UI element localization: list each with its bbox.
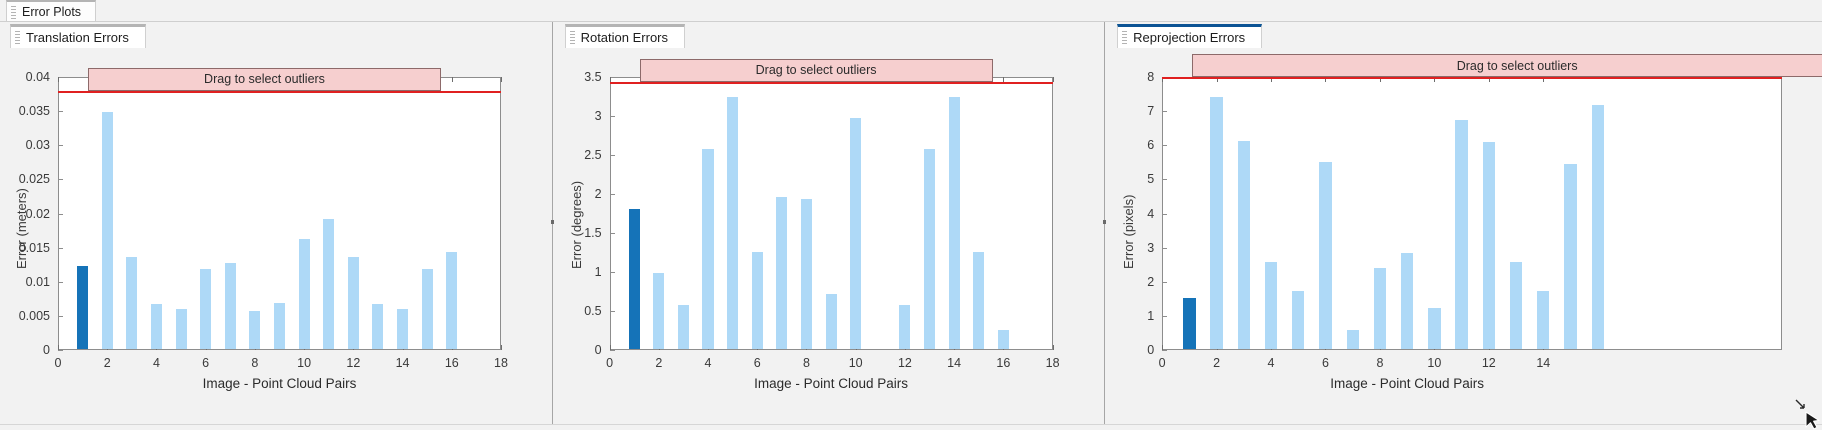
x-tick-label: 8 [1376, 356, 1383, 370]
bar[interactable] [1319, 162, 1331, 349]
bar[interactable] [727, 97, 738, 349]
document-tabstrip: Error Plots [0, 0, 1822, 22]
x-tick-label: 2 [1213, 356, 1220, 370]
x-tick-label: 4 [153, 356, 160, 370]
x-tick-label: 10 [297, 356, 311, 370]
drag-grip-icon[interactable] [11, 6, 16, 19]
bar[interactable] [653, 273, 664, 349]
bar[interactable] [1564, 164, 1576, 349]
x-tick-label: 6 [1322, 356, 1329, 370]
outlier-threshold-line[interactable] [1162, 77, 1782, 79]
bar[interactable] [249, 311, 260, 349]
splitter-line [1104, 22, 1105, 430]
outlier-drag-band[interactable]: Drag to select outliers [88, 68, 441, 91]
y-tick-label: 0 [555, 343, 602, 357]
x-tick-label: 8 [803, 356, 810, 370]
x-axis-label: Image - Point Cloud Pairs [1162, 376, 1652, 391]
bar[interactable] [776, 197, 787, 349]
y-tick-label: 0.01 [0, 275, 50, 289]
x-tick-label: 18 [494, 356, 508, 370]
bar[interactable] [949, 97, 960, 349]
splitter-line [552, 22, 553, 430]
panel-rotation-errors: Rotation Errors 00.511.522.533.502468101… [555, 22, 1104, 430]
splitter-handle[interactable] [551, 220, 554, 224]
bar[interactable] [1347, 330, 1359, 349]
bar[interactable] [151, 304, 162, 349]
y-tick-mark [610, 350, 615, 351]
x-tick-label: 2 [104, 356, 111, 370]
bar[interactable] [1428, 308, 1440, 349]
bar[interactable] [1455, 120, 1467, 349]
bar[interactable] [678, 305, 689, 349]
bar[interactable] [924, 149, 935, 349]
x-tick-mark-top [501, 77, 502, 82]
x-tick-label: 0 [1159, 356, 1166, 370]
bar[interactable] [77, 266, 88, 349]
outlier-drag-band[interactable]: Drag to select outliers [1192, 54, 1822, 77]
bar[interactable] [1210, 97, 1222, 349]
bar-series [1163, 78, 1781, 349]
bar[interactable] [973, 252, 984, 350]
bar[interactable] [323, 219, 334, 349]
bar[interactable] [1483, 142, 1495, 349]
y-tick-mark [1162, 350, 1167, 351]
y-axis-label: Error (pixels) [1121, 194, 1136, 268]
x-axis-label: Image - Point Cloud Pairs [610, 376, 1053, 391]
y-tick-label: 7 [1107, 104, 1154, 118]
x-tick-label: 2 [655, 356, 662, 370]
y-tick-label: 0.005 [0, 309, 50, 323]
x-tick-label: 12 [898, 356, 912, 370]
bar[interactable] [348, 257, 359, 349]
y-tick-label: 0.03 [0, 138, 50, 152]
bar[interactable] [225, 263, 236, 349]
outlier-drag-band[interactable]: Drag to select outliers [640, 59, 993, 82]
bar[interactable] [274, 303, 285, 349]
x-tick-mark [501, 345, 502, 350]
x-tick-label: 0 [55, 356, 62, 370]
x-axis-label: Image - Point Cloud Pairs [58, 376, 501, 391]
bar[interactable] [299, 239, 310, 349]
error-plots-window: Error Plots Translation Errors 00.0050.0… [0, 0, 1822, 430]
panel-row: Translation Errors 00.0050.010.0150.020.… [0, 22, 1822, 430]
bar[interactable] [422, 269, 433, 349]
bar[interactable] [850, 118, 861, 349]
bar[interactable] [826, 294, 837, 349]
y-tick-label: 0.04 [0, 70, 50, 84]
x-tick-label: 6 [754, 356, 761, 370]
outlier-band-label: Drag to select outliers [1457, 59, 1578, 73]
x-tick-label: 4 [705, 356, 712, 370]
bar[interactable] [1292, 291, 1304, 349]
bar-series [59, 78, 500, 349]
bar-series [611, 78, 1052, 349]
panel-translation-errors: Translation Errors 00.0050.010.0150.020.… [0, 22, 551, 430]
y-axis-label: Error (meters) [14, 188, 29, 269]
bar[interactable] [1238, 141, 1250, 349]
y-tick-label: 8 [1107, 70, 1154, 84]
outlier-band-label: Drag to select outliers [756, 63, 877, 77]
bar[interactable] [1537, 291, 1549, 349]
bar[interactable] [1183, 298, 1195, 349]
bar[interactable] [1592, 105, 1604, 349]
bar[interactable] [752, 252, 763, 350]
y-tick-label: 5 [1107, 172, 1154, 186]
bar[interactable] [446, 252, 457, 349]
bar[interactable] [397, 309, 408, 349]
bar[interactable] [801, 199, 812, 349]
window-bottom-edge [0, 424, 1822, 430]
y-tick-label: 0.035 [0, 104, 50, 118]
bar[interactable] [200, 269, 211, 349]
x-tick-mark-top [1053, 77, 1054, 82]
x-tick-label: 18 [1046, 356, 1060, 370]
bar[interactable] [1401, 253, 1413, 349]
x-tick-label: 14 [1536, 356, 1550, 370]
y-tick-mark [58, 350, 63, 351]
bar[interactable] [126, 257, 137, 349]
bar[interactable] [629, 209, 640, 349]
x-tick-label: 4 [1268, 356, 1275, 370]
y-tick-label: 2.5 [555, 148, 602, 162]
bar[interactable] [1265, 262, 1277, 349]
translation-errors-plot[interactable]: 00.0050.010.0150.020.0250.030.0350.04024… [0, 22, 551, 430]
y-tick-label: 1 [1107, 309, 1154, 323]
bar[interactable] [176, 309, 187, 349]
x-tick-label: 10 [849, 356, 863, 370]
panel-reprojection-errors: Reprojection Errors 01234567802468101214… [1107, 22, 1822, 430]
reprojection-errors-plot[interactable]: 01234567802468101214Error (pixels)Image … [1107, 22, 1822, 430]
document-tab-label: Error Plots [18, 5, 81, 19]
splitter-handle[interactable] [1103, 220, 1106, 224]
outlier-threshold-line[interactable] [610, 82, 1053, 84]
x-tick-label: 0 [606, 356, 613, 370]
x-tick-label: 16 [445, 356, 459, 370]
x-tick-label: 8 [251, 356, 258, 370]
resize-cursor-icon [1790, 396, 1820, 430]
bar[interactable] [1374, 268, 1386, 349]
document-tab-error-plots[interactable]: Error Plots [6, 0, 96, 22]
outlier-threshold-line[interactable] [58, 91, 501, 93]
bar[interactable] [1510, 262, 1522, 349]
x-tick-label: 14 [396, 356, 410, 370]
x-tick-label: 12 [346, 356, 360, 370]
y-axis-label: Error (degrees) [569, 180, 584, 268]
y-tick-label: 3.5 [555, 70, 602, 84]
x-tick-label: 6 [202, 356, 209, 370]
outlier-band-label: Drag to select outliers [204, 72, 325, 86]
y-tick-label: 0 [0, 343, 50, 357]
bar[interactable] [102, 112, 113, 349]
bar[interactable] [702, 149, 713, 349]
y-tick-label: 3 [555, 109, 602, 123]
y-tick-label: 0 [1107, 343, 1154, 357]
x-tick-mark [1053, 345, 1054, 350]
bar[interactable] [998, 330, 1009, 350]
y-tick-label: 0.025 [0, 172, 50, 186]
x-tick-label: 16 [996, 356, 1010, 370]
y-tick-label: 0.5 [555, 304, 602, 318]
rotation-errors-plot[interactable]: 00.511.522.533.5024681012141618Error (de… [555, 22, 1104, 430]
y-tick-label: 2 [1107, 275, 1154, 289]
bar[interactable] [899, 305, 910, 349]
x-tick-label: 12 [1482, 356, 1496, 370]
x-tick-label: 14 [947, 356, 961, 370]
y-tick-label: 6 [1107, 138, 1154, 152]
x-tick-label: 10 [1427, 356, 1441, 370]
bar[interactable] [372, 304, 383, 349]
